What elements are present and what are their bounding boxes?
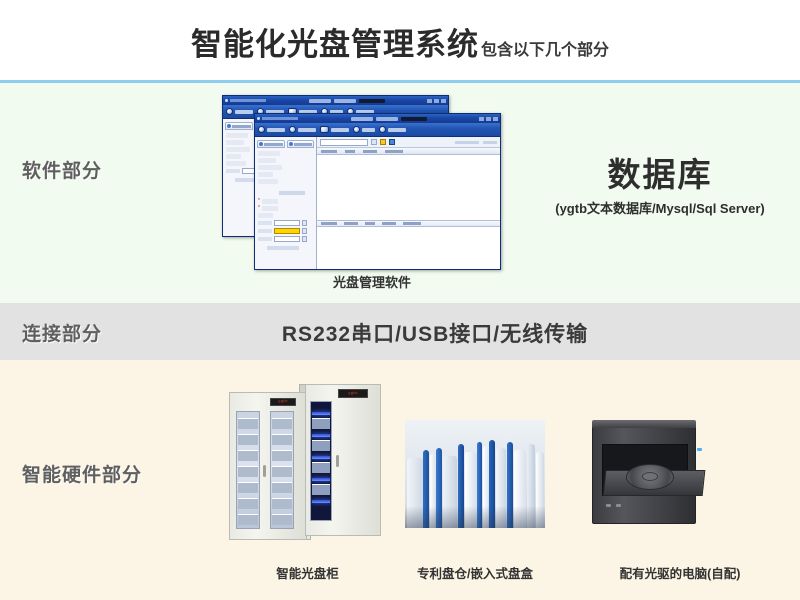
grid-icon[interactable]: [389, 139, 395, 145]
table-header-secondary: [317, 220, 500, 227]
form-row: [258, 158, 276, 163]
cabinet-led-display-right: ygtb: [338, 389, 368, 398]
text-input-active[interactable]: [274, 228, 300, 234]
column-header: [345, 150, 355, 153]
search-meta: [455, 141, 497, 144]
window-titlebar: [255, 114, 500, 123]
page-header: 智能化光盘管理系统 包含以下几个部分: [0, 0, 800, 82]
cabinet-right: ygtb: [305, 384, 381, 536]
led-display-text: ygtb: [278, 400, 288, 404]
window-controls[interactable]: [479, 117, 498, 121]
search-icon: [379, 126, 386, 133]
toolbar-button-label: [362, 128, 375, 132]
column-header: [363, 150, 377, 153]
checkbox-row[interactable]: [267, 246, 299, 250]
gear-icon: [353, 126, 360, 133]
app-window-front[interactable]: * *: [254, 113, 501, 270]
app-icon: [225, 99, 228, 102]
database-title: 数据库: [520, 158, 800, 191]
form-row: [258, 179, 278, 184]
connection-text: RS232串口/USB接口/无线传输: [200, 318, 670, 348]
page-title: 智能化光盘管理系统: [191, 19, 479, 64]
disc-hub: [642, 472, 658, 481]
picker-button[interactable]: [302, 236, 307, 242]
window-title-group: [257, 117, 298, 120]
disc-icon: [320, 126, 329, 133]
led-display-text: ygtb: [348, 392, 358, 396]
circle-arrow-icon: [226, 108, 233, 115]
caption-pc-with-drive: 配有光驱的电脑(自配): [560, 563, 800, 582]
caption-disc-cartridges: 专利盘仓/嵌入式盘盒: [375, 563, 575, 582]
window-title-text: [262, 117, 298, 120]
folder-icon[interactable]: [380, 139, 386, 145]
field-label: [258, 237, 272, 241]
toolbar-button[interactable]: [289, 126, 316, 133]
table-body-secondary[interactable]: [317, 227, 500, 269]
window-title-text: [230, 99, 266, 102]
meta-text: [455, 141, 479, 144]
picker-button[interactable]: [302, 220, 307, 226]
cabinet-handle-right[interactable]: [336, 455, 339, 467]
field-label: [258, 229, 272, 233]
titlebar-chip: [351, 117, 373, 121]
titlebar-chip: [334, 99, 356, 103]
section-label-software: 软件部分: [22, 156, 102, 183]
form-row: [226, 133, 248, 138]
titlebar-chips: [351, 117, 427, 121]
toolbar-button-label: [388, 128, 406, 132]
form-row: [226, 161, 246, 166]
toolbar-button[interactable]: [379, 126, 406, 133]
cartridge-shadow: [405, 506, 545, 528]
titlebar-chip-active: [359, 99, 385, 103]
maximize-icon[interactable]: [434, 99, 439, 103]
text-input[interactable]: [274, 236, 300, 242]
tab-label: [294, 143, 313, 146]
required-asterisk-icon: *: [258, 206, 260, 211]
picker-button[interactable]: [302, 228, 307, 234]
power-led-icon: [697, 448, 702, 451]
toolbar-button[interactable]: [353, 126, 375, 133]
photo-pc-with-drive: [580, 418, 720, 530]
side-form-panel[interactable]: * *: [255, 137, 317, 269]
cabinet-handle-left[interactable]: [263, 465, 266, 477]
toolbar-button[interactable]: [320, 126, 349, 133]
required-asterisk-icon: *: [258, 199, 260, 204]
column-header: [365, 222, 375, 225]
toolbar-button[interactable]: [226, 108, 253, 115]
toolbar-button-label: [267, 128, 285, 132]
form-field[interactable]: [258, 236, 313, 242]
toolbar-button[interactable]: [258, 126, 285, 133]
field-label: [262, 206, 278, 211]
panel-note: [279, 191, 305, 195]
photo-disc-cabinet: ygtb ygtb: [225, 376, 390, 551]
tab-item[interactable]: [225, 122, 253, 130]
meta-text: [483, 141, 497, 144]
tab-icon: [259, 142, 263, 146]
minimize-icon[interactable]: [427, 99, 432, 103]
tab-icon: [289, 142, 293, 146]
cabinet-glass-door-left: [236, 411, 260, 529]
maximize-icon[interactable]: [486, 117, 491, 121]
form-row: [258, 165, 282, 170]
column-header: [403, 222, 421, 225]
close-icon[interactable]: [441, 99, 446, 103]
close-icon[interactable]: [493, 117, 498, 121]
toolbar-button-label: [331, 128, 349, 132]
form-row: [226, 140, 244, 145]
field-label: [258, 221, 272, 225]
column-header: [321, 222, 337, 225]
app-icon: [257, 117, 260, 120]
titlebar-chip: [376, 117, 398, 121]
window-titlebar: [223, 96, 448, 105]
field-label: [262, 199, 278, 204]
minimize-icon[interactable]: [479, 117, 484, 121]
pc-top-panel: [592, 420, 696, 428]
form-row: [226, 147, 250, 152]
search-input[interactable]: [320, 139, 368, 146]
tab-item[interactable]: [287, 140, 315, 148]
form-row: [258, 213, 273, 218]
toolbar-button-label: [298, 128, 316, 132]
pc-front-ports: [606, 504, 621, 507]
form-row: [226, 154, 241, 159]
titlebar-chips: [309, 99, 385, 103]
circle-arrow-icon: [258, 126, 265, 133]
search-toolbar[interactable]: [317, 137, 500, 148]
required-form-row: *: [258, 206, 313, 211]
usb-port-icon: [616, 504, 621, 507]
poster-root: 智能化光盘管理系统 包含以下几个部分 软件部分: [0, 0, 800, 600]
tab-icon: [227, 124, 231, 128]
field-label: [226, 169, 240, 173]
tab-label: [232, 125, 251, 128]
database-subtitle: (ygtb文本数据库/Mysql/Sql Server): [520, 198, 800, 217]
section-label-hardware: 智能硬件部分: [22, 460, 142, 487]
circle-play-icon: [289, 126, 296, 133]
database-block: 数据库 (ygtb文本数据库/Mysql/Sql Server): [520, 158, 800, 217]
photo-disc-cartridges: [405, 420, 545, 528]
caption-disc-cabinet: 智能光盘柜: [225, 563, 390, 582]
table-body[interactable]: [317, 155, 500, 220]
required-form-row: *: [258, 199, 313, 204]
content-pane: [317, 137, 500, 269]
header-title-group: 智能化光盘管理系统 包含以下几个部分: [191, 19, 609, 64]
form-field[interactable]: [258, 220, 313, 226]
form-row: [258, 172, 273, 177]
form-row: [258, 151, 280, 156]
software-screenshots: * *: [222, 95, 522, 270]
form-field-highlighted[interactable]: [258, 228, 313, 234]
page-subtitle: 包含以下几个部分: [481, 36, 609, 60]
column-header: [385, 150, 403, 153]
tab-item[interactable]: [257, 140, 285, 148]
window-toolbar[interactable]: [255, 123, 500, 137]
table-header: [317, 148, 500, 155]
tab-label: [264, 143, 283, 146]
column-header: [321, 150, 337, 153]
caption-software: 光盘管理软件: [222, 272, 522, 291]
text-input[interactable]: [274, 220, 300, 226]
cabinet-glass-door-lit: [310, 401, 332, 521]
titlebar-chip: [309, 99, 331, 103]
window-title-group: [225, 99, 266, 102]
cabinet-left: ygtb: [229, 392, 307, 540]
column-header: [344, 222, 358, 225]
window-body: * *: [255, 137, 500, 269]
column-header: [382, 222, 396, 225]
section-label-connection: 连接部分: [22, 319, 102, 346]
search-button[interactable]: [371, 139, 377, 145]
cabinet-led-display-left: ygtb: [270, 398, 296, 406]
usb-port-icon: [606, 504, 611, 507]
titlebar-chip-active: [401, 117, 427, 121]
panel-tabs[interactable]: [257, 140, 314, 148]
cabinet-glass-door-right: [270, 411, 294, 529]
window-controls[interactable]: [427, 99, 446, 103]
toolbar-button-label: [235, 110, 253, 114]
